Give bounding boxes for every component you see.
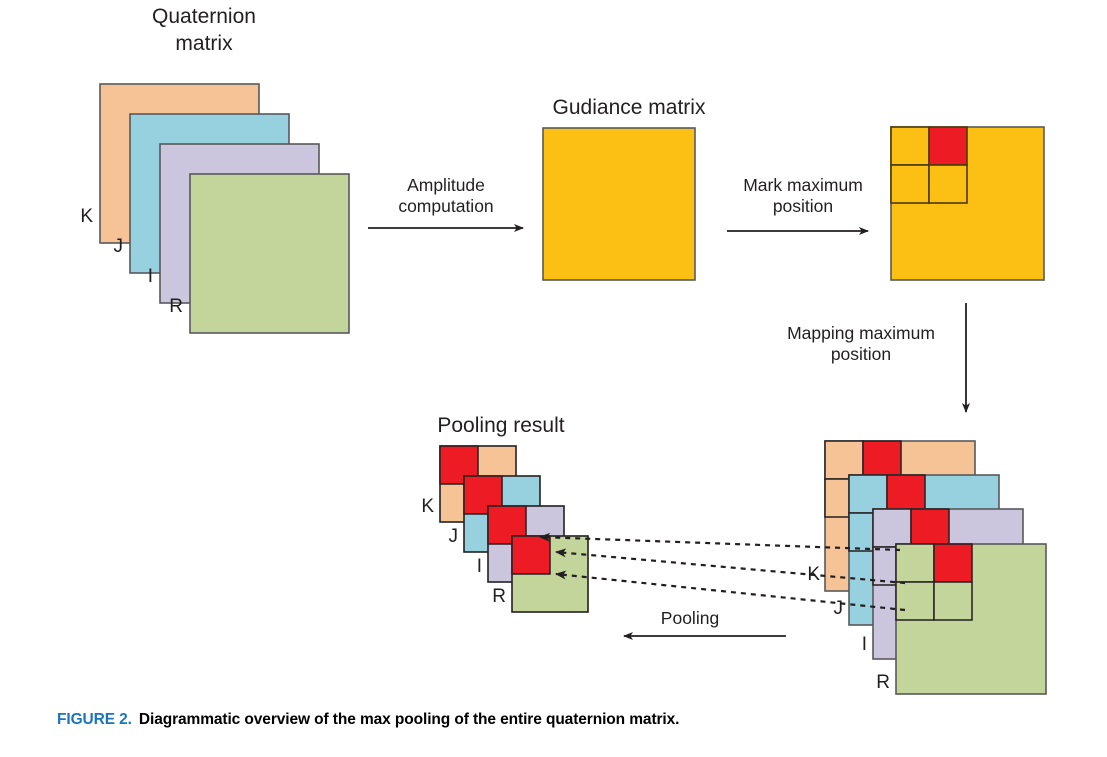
figure-caption: FIGURE 2.Diagrammatic overview of the ma… [57, 711, 1057, 729]
amplitude-label-line1: Amplitude [407, 175, 485, 195]
amplitude-label-line2: computation [398, 196, 493, 216]
figure-caption-text: Diagrammatic overview of the max pooling… [139, 711, 679, 728]
mapped-label-j: J [834, 598, 844, 619]
diagram-canvas: Quaternion matrix K J I R Amplitude comp… [0, 0, 1107, 757]
mapped-r-cell-r0c0 [896, 544, 934, 582]
mapping-max-label-line1: Mapping maximum [787, 323, 935, 343]
mapped-r-cell-max [934, 544, 972, 582]
mapped-r-cell-r1c0 [896, 582, 934, 620]
marked-cell-max [929, 127, 967, 165]
mapped-i-cell-r0c0 [873, 509, 911, 547]
pooling-label-i: I [477, 556, 482, 577]
marked-cell-r0c0 [891, 127, 929, 165]
pooling-label-r: R [492, 586, 506, 607]
figure-container: Quaternion matrix K J I R Amplitude comp… [0, 0, 1107, 757]
mapping-maximum-arrow-group: Mapping maximum position [787, 303, 966, 412]
quaternion-layer-r [190, 174, 349, 333]
mark-max-label-line2: position [773, 196, 833, 216]
mapped-quaternion-stack: K J I R [807, 441, 1046, 694]
quaternion-matrix-title-line2: matrix [175, 32, 233, 55]
pooling-arrow-label: Pooling [661, 608, 719, 628]
quaternion-matrix-stack: K J I R [80, 84, 349, 333]
pooling-result-title: Pooling result [437, 414, 564, 437]
marked-guidance-matrix-group [891, 127, 1044, 280]
figure-number: FIGURE 2. [57, 711, 132, 728]
mapped-k-cell-max [863, 441, 901, 479]
quaternion-matrix-title: Quaternion matrix [152, 5, 256, 55]
guidance-matrix [543, 128, 695, 280]
mapped-label-i: I [862, 634, 867, 655]
mark-maximum-arrow-group: Mark maximum position [727, 175, 868, 231]
amplitude-computation-arrow-group: Amplitude computation [368, 175, 523, 228]
mapped-layer-r [896, 544, 1046, 694]
pooling-r-cell-max [512, 536, 550, 574]
mark-max-label-line1: Mark maximum [743, 175, 863, 195]
pooling-layer-r [512, 536, 588, 612]
mapped-k-cell-r0c0 [825, 441, 863, 479]
mapped-j-cell-r0c0 [849, 475, 887, 513]
quaternion-matrix-title-line1: Quaternion [152, 5, 256, 28]
guidance-matrix-group: Gudiance matrix [543, 96, 706, 280]
pooling-label-j: J [449, 526, 459, 547]
pooling-label-k: K [421, 496, 434, 517]
quaternion-label-r: R [169, 296, 183, 317]
quaternion-label-j: J [114, 236, 124, 257]
quaternion-label-i: I [148, 266, 153, 287]
mapped-i-cell-max [911, 509, 949, 547]
pooling-arrow-group: Pooling [624, 608, 786, 636]
pooling-result-stack: K J I R [421, 446, 588, 612]
mapped-label-r: R [876, 672, 890, 693]
mapped-r-cell-r1c1 [934, 582, 972, 620]
marked-cell-r1c1 [929, 165, 967, 203]
guidance-matrix-title: Gudiance matrix [553, 96, 706, 119]
mapped-j-cell-max [887, 475, 925, 513]
marked-cell-r1c0 [891, 165, 929, 203]
mapping-max-label-line2: position [831, 344, 891, 364]
quaternion-label-k: K [80, 206, 93, 227]
